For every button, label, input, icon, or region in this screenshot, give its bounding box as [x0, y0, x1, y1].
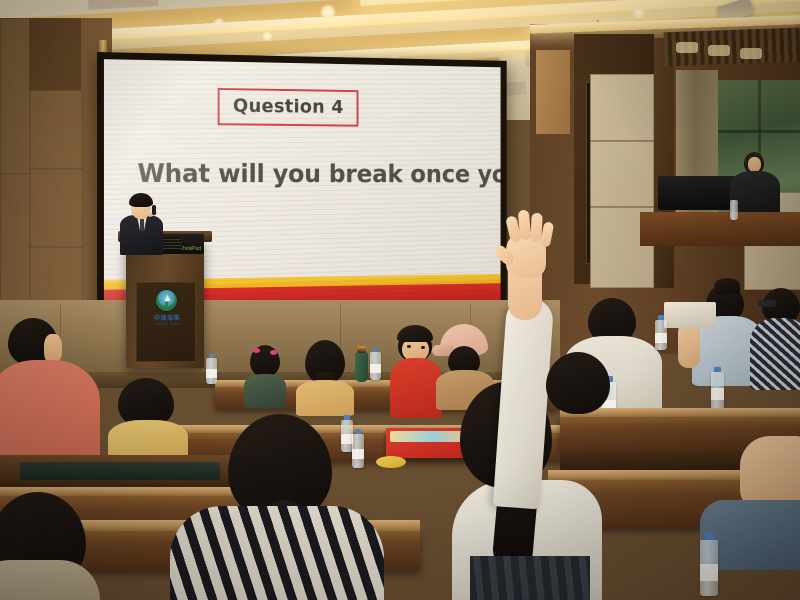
child-skirt — [470, 556, 590, 600]
window-mullion — [712, 130, 800, 133]
bench-pad — [20, 462, 220, 480]
control-desk — [640, 212, 800, 246]
speaker-tie — [140, 219, 144, 231]
water-bottle — [206, 358, 217, 384]
adult-body-polkadot — [750, 318, 800, 390]
water-bottle — [730, 200, 738, 220]
podium-logo-text: 中国海事 — [146, 313, 188, 322]
green-thermos — [355, 352, 368, 382]
laptop-brand-label: ThinkPad — [180, 246, 201, 252]
downlight — [320, 4, 336, 20]
downlight — [632, 7, 645, 19]
slide-headline: What will you break once you say it? — [137, 159, 497, 189]
yellow-plate — [376, 456, 406, 468]
av-equipment — [658, 176, 736, 210]
hair-tie — [270, 350, 277, 355]
acoustic-panel — [590, 74, 654, 288]
adult-arm — [678, 322, 700, 368]
water-bottle — [370, 352, 381, 380]
podium: ▲ 中国海事 CHINA MSA — [126, 242, 204, 368]
audience-arm — [740, 436, 800, 510]
question-badge-label: Question 4 — [233, 95, 344, 118]
water-bottle — [655, 320, 667, 350]
pine-tree-emblem-icon: ▲ — [156, 290, 177, 311]
water-bottle — [700, 540, 718, 596]
eyeglasses-icon — [758, 300, 776, 307]
podium-front-panel: ▲ 中国海事 CHINA MSA — [136, 282, 196, 362]
microphone-icon — [152, 205, 156, 215]
child-body — [244, 374, 286, 408]
child-body-red-shirt — [390, 358, 442, 418]
downlight — [213, 18, 225, 29]
question-badge: Question 4 — [218, 88, 359, 127]
water-bottle — [711, 372, 724, 410]
hair-bun — [714, 278, 740, 294]
child-body — [296, 380, 354, 416]
water-bottle — [352, 434, 364, 468]
adult-body-striped-top — [170, 506, 384, 600]
podium-logo-subtext: CHINA MSA — [144, 322, 190, 326]
paper-card-on-desk — [664, 302, 716, 328]
lecture-hall-photo: Question 4 What will you break once you … — [0, 0, 800, 600]
downlight — [262, 31, 273, 41]
hair-tie — [253, 348, 260, 353]
audience-head — [546, 352, 610, 414]
wall-accent-panel — [536, 50, 570, 134]
speaker-hair — [129, 193, 153, 207]
